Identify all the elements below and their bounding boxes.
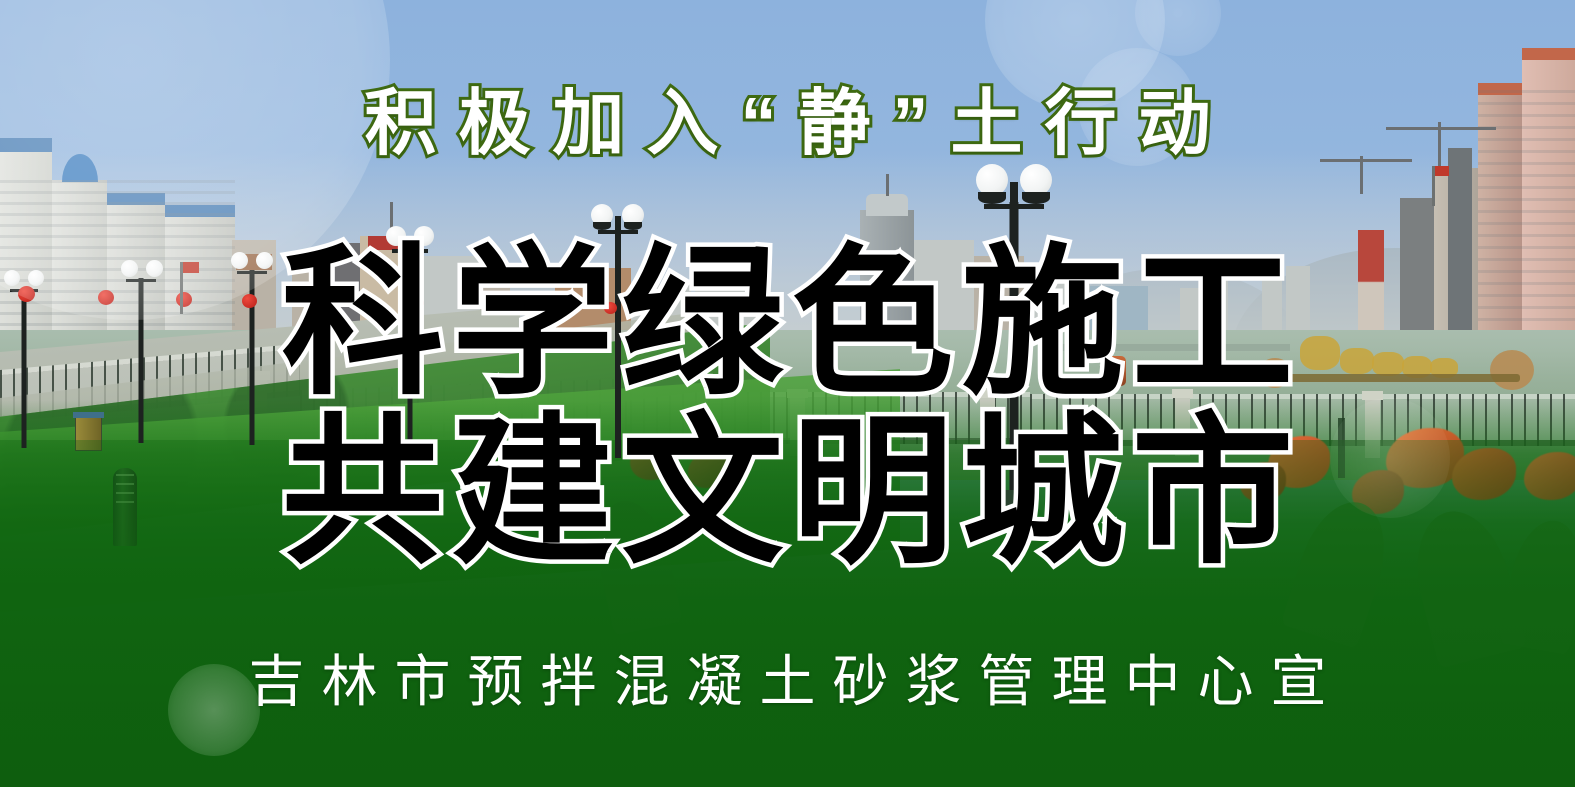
tower-antenna <box>886 174 889 196</box>
building-r-tower2-roof <box>1522 48 1575 60</box>
lamp-cap-right <box>624 222 642 230</box>
poster-banner: 积极加入“静”土行动 科学绿色施工 共建文明城市 吉林市预拌混凝土砂浆管理中心宣 <box>0 0 1575 787</box>
headline-main-line1: 科学绿色施工 <box>0 243 1575 405</box>
flag-red-right <box>1435 166 1449 176</box>
tower-crown <box>866 194 908 216</box>
lamp-finial <box>1010 182 1018 216</box>
organization-byline: 吉林市预拌混凝土砂浆管理中心宣 <box>0 655 1575 711</box>
lamp-cap-right <box>1022 192 1050 204</box>
headline-top: 积极加入“静”土行动 <box>0 88 1575 160</box>
lamp-cap-left <box>978 192 1006 204</box>
headline-main-line2: 共建文明城市 <box>0 412 1575 574</box>
lamp-cap-left <box>593 222 611 230</box>
